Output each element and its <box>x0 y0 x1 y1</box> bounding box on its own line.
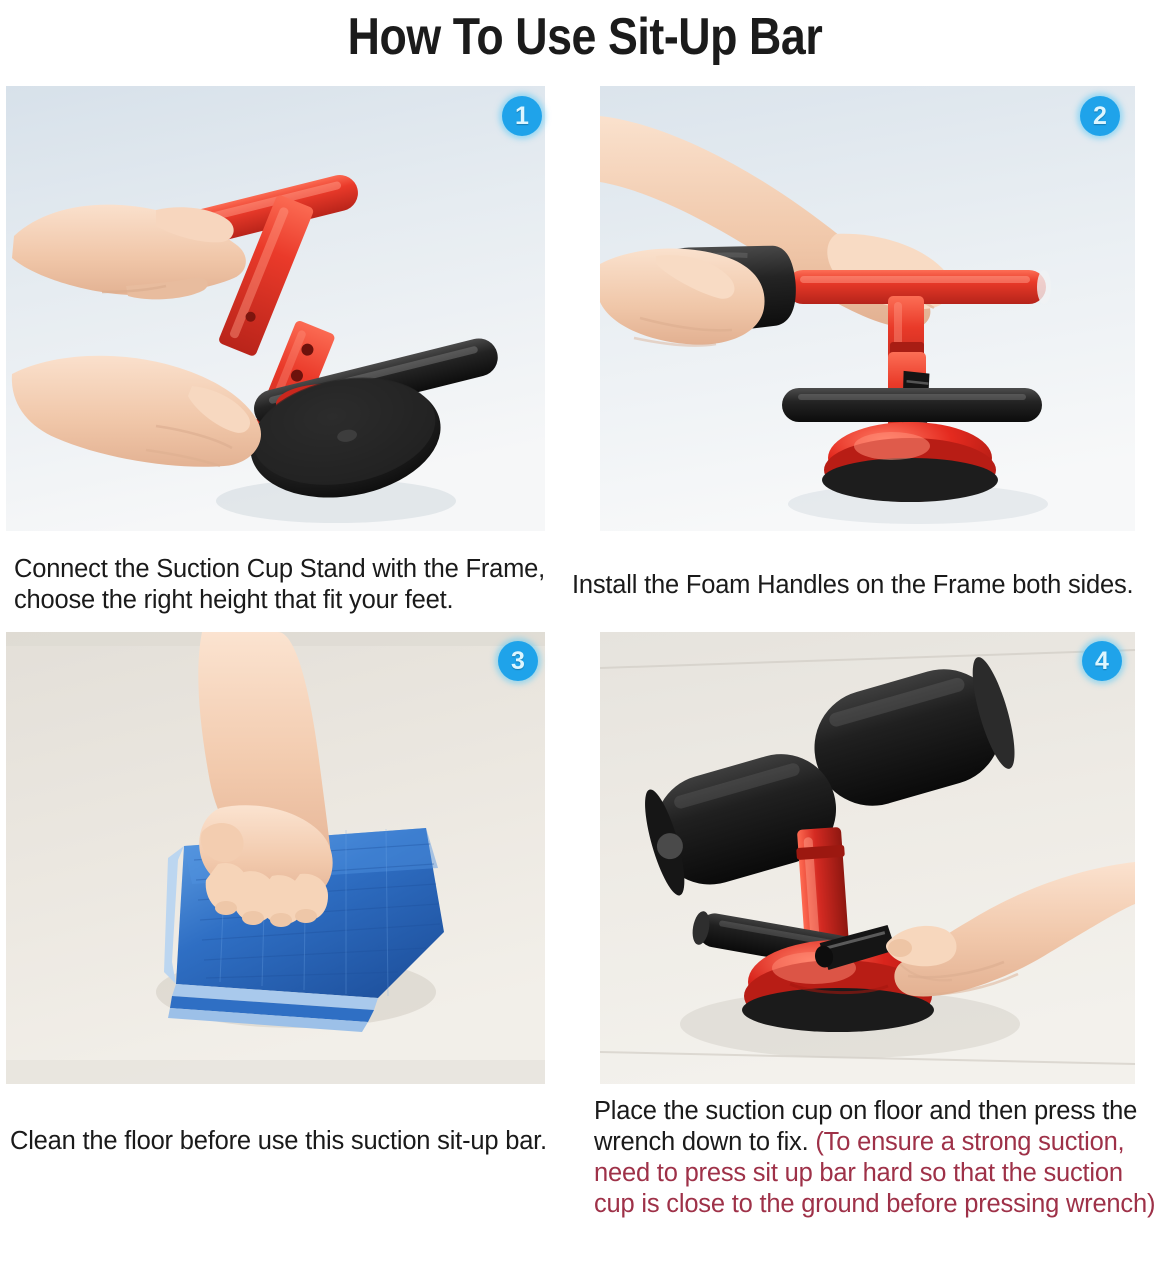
step-3-caption-line-1: Clean the floor before use this suction … <box>10 1127 547 1155</box>
step-1-caption-line-2: choose the right height that fit your fe… <box>14 586 453 614</box>
step-badge-3: 3 <box>498 641 538 681</box>
step-4-caption-red-2: need to press sit up bar hard so that th… <box>594 1159 1123 1187</box>
step-badge-4: 4 <box>1082 641 1122 681</box>
step-4-caption-black-2: wrench down to fix. <box>594 1128 808 1156</box>
step-1-photo <box>6 86 545 531</box>
step-badge-2: 2 <box>1080 96 1120 136</box>
step-2-caption-line-1: Install the Foam Handles on the Frame bo… <box>572 571 1133 599</box>
step-4-caption-red-3: cup is close to the ground before pressi… <box>594 1190 1155 1218</box>
page-title: How To Use Sit-Up Bar <box>82 8 1088 66</box>
step-4-photo <box>600 632 1135 1084</box>
step-3-caption: Clean the floor before use this suction … <box>10 1126 580 1157</box>
step-2-photo <box>600 86 1135 531</box>
step-2-caption: Install the Foam Handles on the Frame bo… <box>572 570 1170 601</box>
step-1-caption-line-1: Connect the Suction Cup Stand with the F… <box>14 555 545 583</box>
infographic-sheet: How To Use Sit-Up Bar <box>0 0 1170 1262</box>
step-4-caption-black-1: Place the suction cup on floor and then … <box>594 1097 1137 1125</box>
step-4-caption: Place the suction cup on floor and then … <box>594 1096 1160 1220</box>
step-4-caption-red-1: (To ensure a strong suction, <box>815 1128 1124 1156</box>
step-badge-1: 1 <box>502 96 542 136</box>
step-3-photo <box>6 632 545 1084</box>
step-1-caption: Connect the Suction Cup Stand with the F… <box>14 554 574 616</box>
